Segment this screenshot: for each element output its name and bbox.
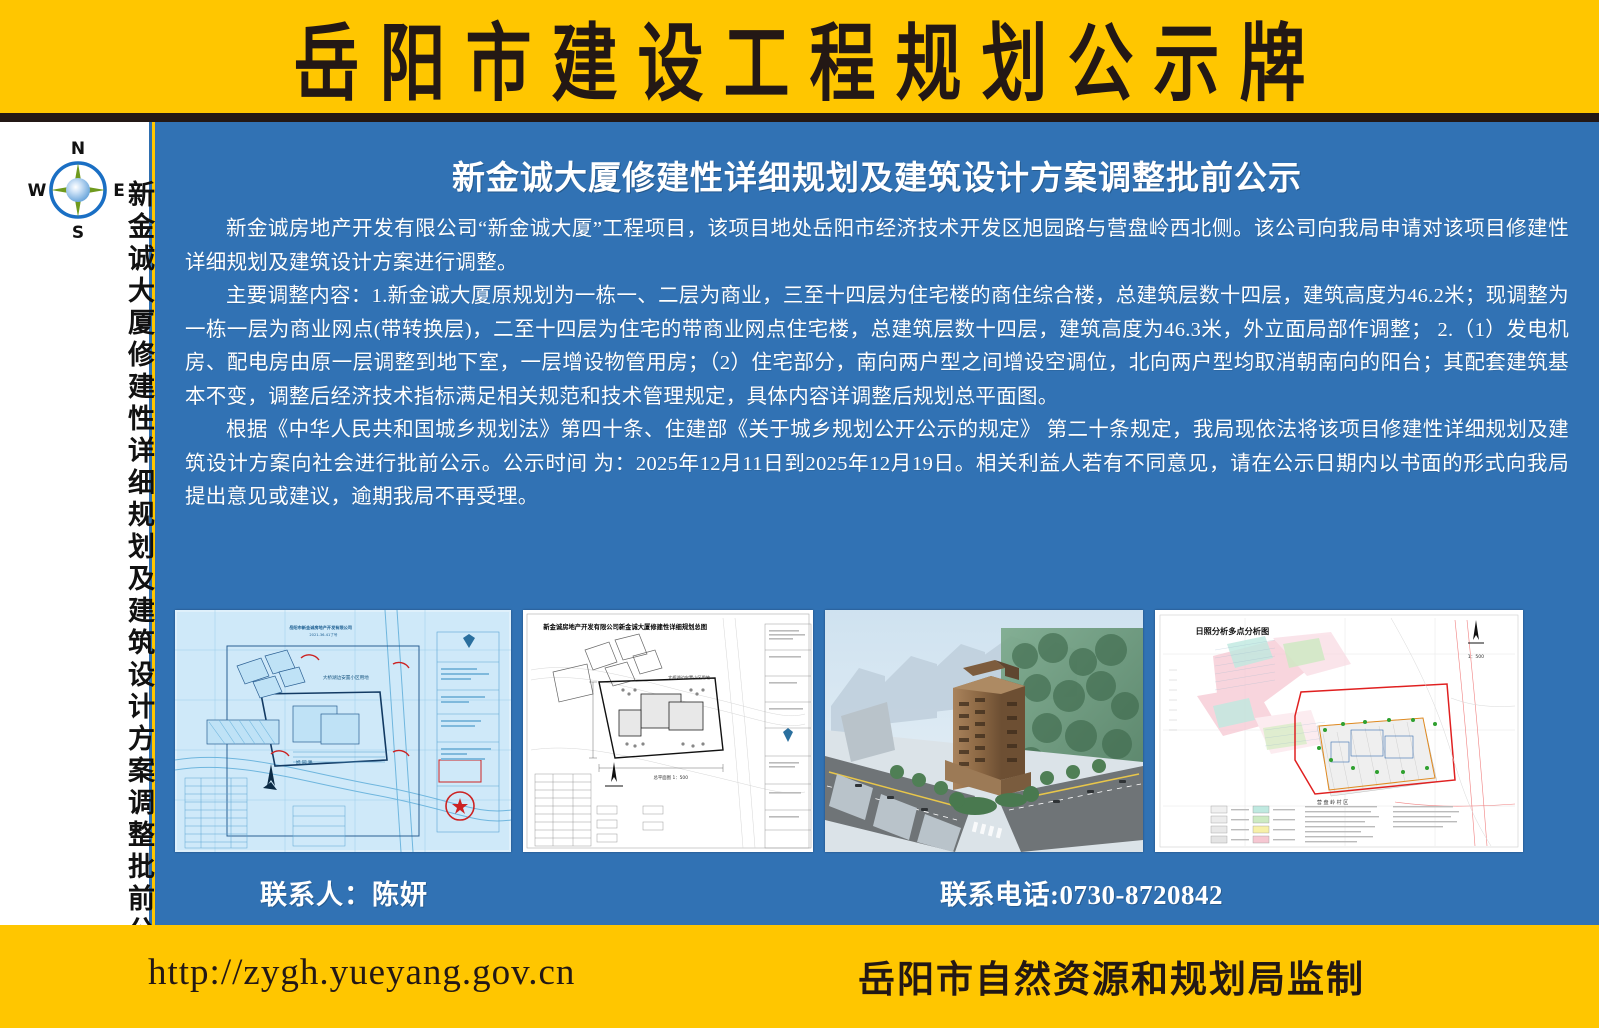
drawing2-plan-label: 总平面图 1：500 bbox=[654, 775, 689, 781]
left-sidebar: N S E W 新金诚大厦修建性详细规划及建筑设计方案调整批前公示 bbox=[0, 122, 152, 925]
compass-north-label: N bbox=[71, 139, 85, 159]
drawing2-caption: 新金诚房地产开发有限公司新金诚大厦修建性详细规划总图 bbox=[543, 622, 707, 631]
paragraph-2: 主要调整内容：1.新金诚大厦原规划为一栋一、二层为商业，三至十四层为住宅楼的商住… bbox=[185, 280, 1569, 414]
drawing4-caption: 日照分析多点分析图 bbox=[1195, 625, 1269, 637]
contact-row: 联系人：陈妍 联系电话:0730-8720842 bbox=[155, 867, 1599, 925]
footer-agency-name: 岳阳市自然资源和规划局监制 bbox=[858, 949, 1365, 1003]
drawing4-zone-label: 营 盘 岭 村 区 bbox=[1317, 799, 1348, 806]
drawing-sunlight-analysis[interactable]: 日照分析多点分析图 1：500 营 盘 岭 村 区 bbox=[1155, 610, 1523, 852]
drawing4-scale-label: 1：500 bbox=[1468, 654, 1484, 660]
contact-person: 联系人：陈妍 bbox=[260, 873, 428, 912]
drawing-site-plan-blueprint[interactable]: 岳阳市新金诚房地产开发有限公司 2021-36-41了号 大桥湖边安置小区用地 … bbox=[175, 610, 511, 852]
announcement-body: 新金诚房地产开发有限公司“新金诚大厦”工程项目，该项目地处岳阳市经济技术开发区旭… bbox=[185, 213, 1569, 515]
header-divider bbox=[0, 113, 1599, 122]
paragraph-3: 根据《中华人民共和国城乡规划法》第四十条、住建部《关于城乡规划公开公示的规定》 … bbox=[185, 414, 1569, 515]
drawing-detailed-plan[interactable]: 新金诚房地产开发有限公司新金诚大厦修建性详细规划总图 大桥湖边安置小区用地 总平… bbox=[523, 610, 813, 852]
drawing1-road-label: 旭 园 路 bbox=[296, 760, 313, 766]
drawings-gallery: 岳阳市新金诚房地产开发有限公司 2021-36-41了号 大桥湖边安置小区用地 … bbox=[175, 610, 1579, 852]
drawing2-zone-label: 大桥湖边安置小区用地 bbox=[668, 675, 710, 681]
aerial-rendering-image[interactable] bbox=[825, 610, 1143, 852]
main-panel: 新金诚大厦修建性详细规划及建筑设计方案调整批前公示 新金诚房地产开发有限公司“新… bbox=[155, 122, 1599, 925]
page-title: 岳阳市建设工程规划公示牌 bbox=[274, 0, 1326, 118]
drawing1-zone-label: 大桥湖边安置小区用地 bbox=[323, 675, 369, 681]
board-footer: http://zygh.yueyang.gov.cn 岳阳市自然资源和规划局监制 bbox=[0, 925, 1599, 1028]
footer-website-url[interactable]: http://zygh.yueyang.gov.cn bbox=[148, 951, 575, 994]
compass-south-label: S bbox=[72, 223, 84, 242]
paragraph-1: 新金诚房地产开发有限公司“新金诚大厦”工程项目，该项目地处岳阳市经济技术开发区旭… bbox=[185, 213, 1569, 280]
compass-west-label: W bbox=[28, 181, 47, 201]
contact-phone: 联系电话:0730-8720842 bbox=[940, 873, 1223, 912]
document-title: 新金诚大厦修建性详细规划及建筑设计方案调整批前公示 bbox=[155, 151, 1599, 199]
board-header: 岳阳市建设工程规划公示牌 bbox=[0, 0, 1599, 113]
compass-rose-icon: N S E W bbox=[26, 138, 130, 242]
publicity-board: 岳阳市建设工程规划公示牌 N S bbox=[0, 0, 1599, 1028]
drawing1-caption: 岳阳市新金诚房地产开发有限公司 bbox=[289, 625, 352, 631]
drawing1-subcaption: 2021-36-41了号 bbox=[309, 633, 337, 638]
sidebar-vertical-title: 新金诚大厦修建性详细规划及建筑设计方案调整批前公示 bbox=[0, 250, 152, 910]
